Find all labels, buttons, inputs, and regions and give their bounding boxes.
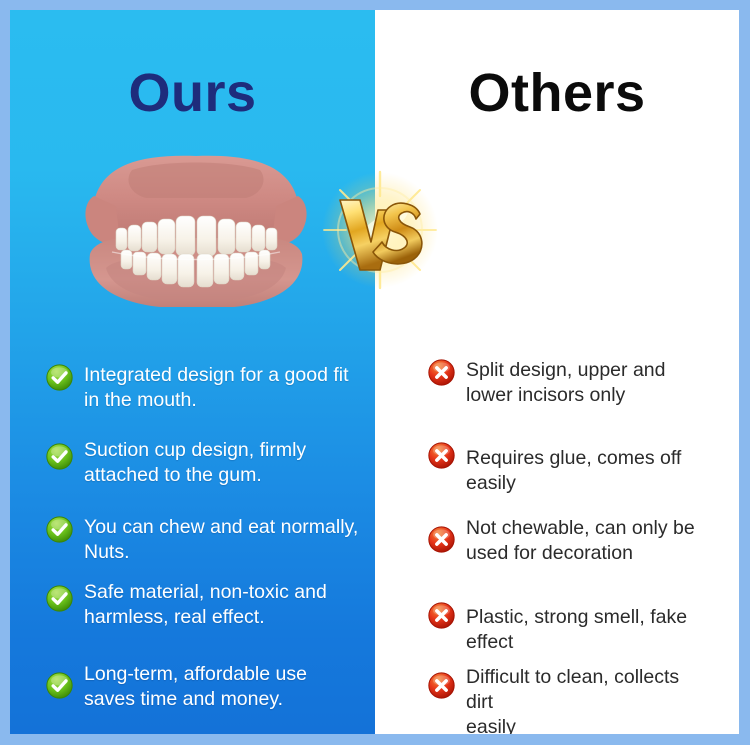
- ours-feature-list: Integrated design for a good fit in the …: [10, 10, 375, 734]
- red-x-circle-icon: [428, 526, 455, 553]
- green-check-circle-icon: [46, 672, 73, 699]
- red-x-circle-icon: [428, 602, 455, 629]
- green-check-circle-icon: [46, 443, 73, 470]
- list-item: Plastic, strong smell, fake effect: [428, 602, 708, 655]
- red-x-circle-icon: [428, 672, 455, 699]
- list-item: Integrated design for a good fit in the …: [46, 363, 376, 413]
- list-item-label: Long-term, affordable use saves time and…: [84, 662, 307, 712]
- list-item: Safe material, non-toxic and harmless, r…: [46, 580, 376, 630]
- list-item-label: Suction cup design, firmly attached to t…: [84, 438, 306, 488]
- others-panel: Others: [375, 10, 739, 734]
- list-item: Requires glue, comes off easily: [428, 442, 708, 496]
- list-item-label: Not chewable, can only be used for decor…: [466, 516, 695, 566]
- list-item-label: Safe material, non-toxic and harmless, r…: [84, 580, 327, 630]
- others-feature-list: Split design, upper and lower incisors o…: [375, 10, 739, 734]
- list-item-label: Difficult to clean, collects dirt easily: [466, 665, 708, 734]
- list-item: You can chew and eat normally, Nuts.: [46, 515, 376, 565]
- comparison-panels: Ours: [10, 10, 739, 734]
- list-item: Suction cup design, firmly attached to t…: [46, 438, 376, 488]
- green-check-circle-icon: [46, 364, 73, 391]
- list-item-label: Plastic, strong smell, fake effect: [466, 605, 708, 655]
- list-item-label: Integrated design for a good fit in the …: [84, 363, 349, 413]
- list-item-label: Requires glue, comes off easily: [466, 446, 708, 496]
- red-x-circle-icon: [428, 442, 455, 469]
- green-check-circle-icon: [46, 516, 73, 543]
- comparison-infographic: Ours: [0, 0, 750, 745]
- list-item: Not chewable, can only be used for decor…: [428, 516, 708, 566]
- red-x-circle-icon: [428, 359, 455, 386]
- list-item: Split design, upper and lower incisors o…: [428, 358, 708, 408]
- list-item-label: Split design, upper and lower incisors o…: [466, 358, 665, 408]
- list-item: Long-term, affordable use saves time and…: [46, 662, 376, 712]
- ours-panel: Ours: [10, 10, 375, 734]
- list-item: Difficult to clean, collects dirt easily: [428, 665, 708, 734]
- green-check-circle-icon: [46, 585, 73, 612]
- list-item-label: You can chew and eat normally, Nuts.: [84, 515, 358, 565]
